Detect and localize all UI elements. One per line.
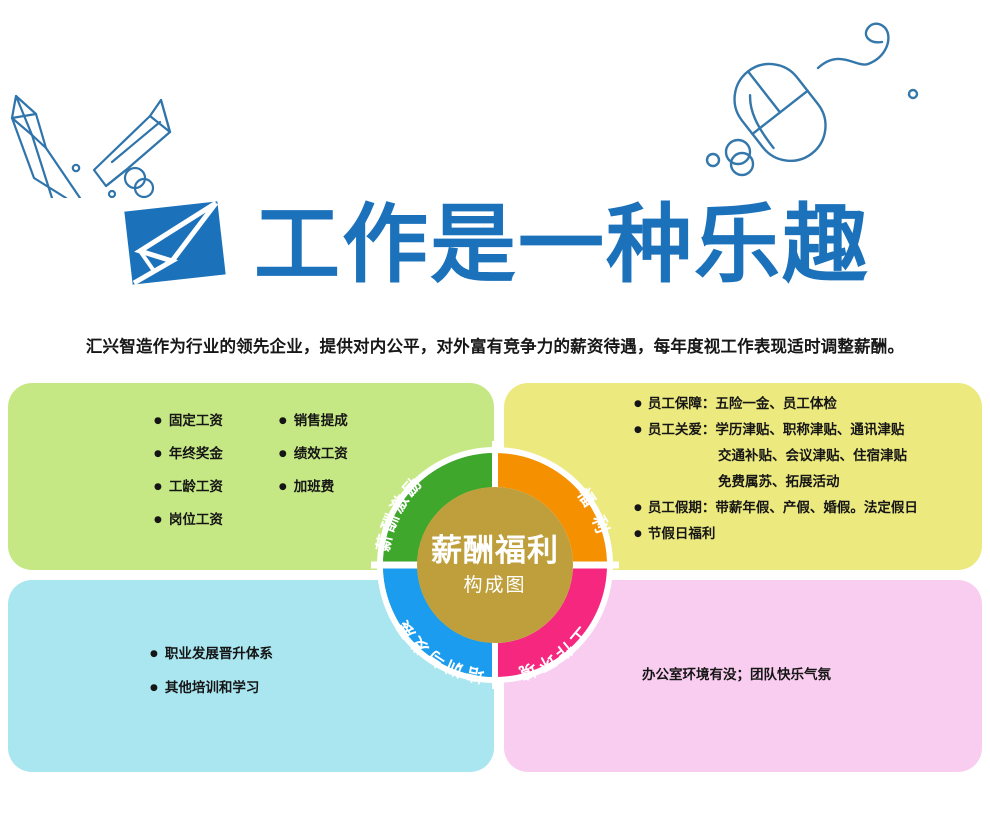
list-item-continuation: 免费属苏、拓展活动 xyxy=(634,474,918,491)
list-item: 岗位工资 xyxy=(154,508,223,528)
list-item: 节假日福利 xyxy=(634,526,918,543)
list-item: 职业发展晋升体系 xyxy=(150,642,273,662)
company-logo-icon xyxy=(120,199,238,291)
list-item: 其他培训和学习 xyxy=(150,676,273,696)
pencils-icon xyxy=(0,18,294,198)
salary-items-columns: 固定工资 年终奖金 工龄工资 岗位工资 销售提成 绩效工资 加班费 xyxy=(154,409,348,541)
list-item: 绩效工资 xyxy=(279,442,348,462)
salary-benefit-donut-chart: 薪酬激励 福 利 工作环境 培训与发展 xyxy=(345,415,645,715)
hero-banner: 工作是一种乐趣 xyxy=(0,190,990,300)
salary-column-1: 固定工资 年终奖金 工龄工资 岗位工资 xyxy=(154,409,223,541)
salary-column-2: 销售提成 绩效工资 加班费 xyxy=(279,409,348,541)
list-item: 员工关爱：学历津贴、职称津贴、通讯津贴 xyxy=(634,422,918,439)
welfare-items: 员工保障：五险一金、员工体检 员工关爱：学历津贴、职称津贴、通讯津贴 交通补贴、… xyxy=(634,396,918,552)
page-title: 工作是一种乐趣 xyxy=(254,199,870,291)
list-item: 加班费 xyxy=(279,475,348,495)
list-item: 员工假期：带薪年假、产假、婚假。法定假日 xyxy=(634,500,918,517)
list-item-continuation: 交通补贴、会议津贴、住宿津贴 xyxy=(634,448,918,465)
list-item: 年终奖金 xyxy=(154,442,223,462)
subtitle-text: 汇兴智造作为行业的领先企业，提供对内公平，对外富有竞争力的薪资待遇，每年度视工作… xyxy=(0,333,990,357)
list-item: 员工保障：五险一金、员工体检 xyxy=(634,396,918,413)
list-item: 固定工资 xyxy=(154,409,223,429)
donut-center-disc xyxy=(417,487,573,643)
training-items: 职业发展晋升体系 其他培训和学习 xyxy=(150,642,273,710)
computer-mouse-icon xyxy=(660,6,960,186)
list-item: 工龄工资 xyxy=(154,475,223,495)
work-environment-text: 办公室环境有没；团队快乐气氛 xyxy=(642,663,831,683)
list-item: 销售提成 xyxy=(279,409,348,429)
